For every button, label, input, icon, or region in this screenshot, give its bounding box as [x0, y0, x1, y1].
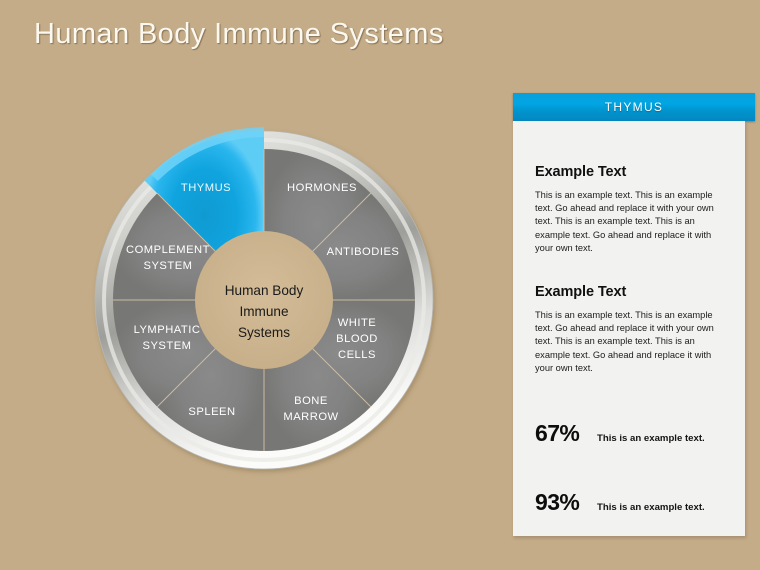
stat-row-1-value: 67% [535, 420, 597, 447]
detail-panel: THYMUS Example Text This is an example t… [513, 93, 755, 536]
segment-label-complement-system-1: COMPLEMENT [126, 244, 210, 256]
page-title: Human Body Immune Systems [34, 18, 444, 51]
segment-label-lymphatic-system-2: SYSTEM [142, 340, 191, 352]
stat-row-1: 67% This is an example text. [535, 375, 727, 447]
panel-header-title: THYMUS [605, 100, 663, 114]
segment-label-bone-marrow-2: MARROW [283, 411, 338, 423]
stat-row-2-text: This is an example text. [597, 502, 705, 513]
text-block-2: Example Text This is an example text. Th… [535, 255, 727, 375]
text-block-1: Example Text This is an example text. Th… [535, 121, 727, 255]
segment-label-white-blood-cells-2: BLOOD [336, 333, 378, 345]
immune-systems-donut-diagram: Human Body Immune Systems THYMUS HORMONE… [76, 124, 452, 476]
donut-center-hub: Human Body Immune Systems [195, 231, 333, 369]
segment-label-bone-marrow-1: BONE [294, 395, 328, 407]
segment-label-white-blood-cells-1: WHITE [338, 317, 377, 329]
text-block-1-body: This is an example text. This is an exam… [535, 189, 727, 255]
stat-row-1-text: This is an example text. [597, 433, 705, 444]
segment-label-hormones: HORMONES [287, 182, 357, 194]
hub-label-line-3: Systems [238, 325, 290, 340]
segment-label-thymus: THYMUS [181, 182, 231, 194]
segment-label-antibodies: ANTIBODIES [327, 246, 400, 258]
segment-label-white-blood-cells-3: CELLS [338, 349, 376, 361]
segment-label-complement-system-2: SYSTEM [143, 260, 192, 272]
stat-row-2: 93% This is an example text. [535, 447, 727, 516]
stat-row-2-value: 93% [535, 489, 597, 516]
hub-label-line-1: Human Body [225, 283, 304, 298]
panel-body: Example Text This is an example text. Th… [513, 121, 745, 536]
panel-header: THYMUS [513, 93, 755, 121]
segment-label-spleen: SPLEEN [188, 406, 235, 418]
segment-label-lymphatic-system-1: LYMPHATIC [134, 324, 201, 336]
text-block-2-heading: Example Text [535, 284, 727, 300]
text-block-2-body: This is an example text. This is an exam… [535, 309, 727, 375]
hub-label-line-2: Immune [239, 304, 288, 319]
donut-svg: Human Body Immune Systems THYMUS HORMONE… [76, 124, 452, 476]
text-block-1-heading: Example Text [535, 164, 727, 180]
